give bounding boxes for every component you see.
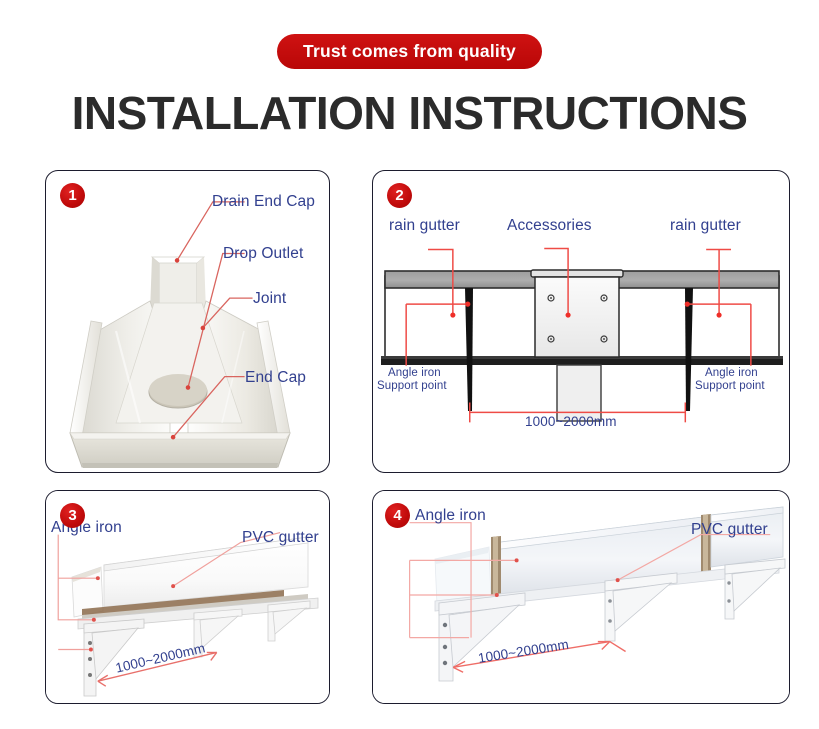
panel-badge-3: 3 — [60, 503, 85, 528]
label-end-cap: End Cap — [245, 369, 306, 387]
panel-badge-2: 2 — [387, 183, 412, 208]
label-angle-iron-left: Angle iron — [388, 367, 441, 380]
label-span-dimension: 1000~2000mm — [525, 414, 617, 429]
label-rain-gutter-left: rain gutter — [389, 217, 460, 235]
page-title: INSTALLATION INSTRUCTIONS — [0, 88, 819, 140]
label-support-point-right: Support point — [695, 380, 765, 393]
label-support-point-left: Support point — [377, 380, 447, 393]
label-drop-outlet: Drop Outlet — [223, 245, 303, 263]
panel-support-spacing-diagram: 2 rain gutter Accessories rain gutter An… — [372, 170, 790, 473]
label-rain-gutter-right: rain gutter — [670, 217, 741, 235]
label-pvc-gutter-4: PVC gutter — [691, 521, 768, 539]
label-accessories: Accessories — [507, 217, 592, 235]
label-pvc-gutter-3: PVC gutter — [242, 529, 319, 547]
label-drain-end-cap: Drain End Cap — [212, 193, 315, 211]
panel-gutter-components: 1 Drain End Cap Drop Outlet Joint End Ca… — [45, 170, 330, 473]
panel-bracket-side-view: 3 Angle iron PVC gutter 1000~2000mm — [45, 490, 330, 704]
label-angle-iron-4: Angle iron — [415, 507, 486, 525]
tagline-badge: Trust comes from quality — [277, 34, 542, 69]
header-tagline-wrap: Trust comes from quality — [0, 34, 819, 69]
panel-badge-4: 4 — [385, 503, 410, 528]
panel-badge-1: 1 — [60, 183, 85, 208]
panel-bracket-perspective-view: 4 Angle iron PVC gutter 1000~2000mm — [372, 490, 790, 704]
label-angle-iron-right: Angle iron — [705, 367, 758, 380]
label-joint: Joint — [253, 290, 286, 308]
panel-1-photo — [46, 171, 329, 472]
